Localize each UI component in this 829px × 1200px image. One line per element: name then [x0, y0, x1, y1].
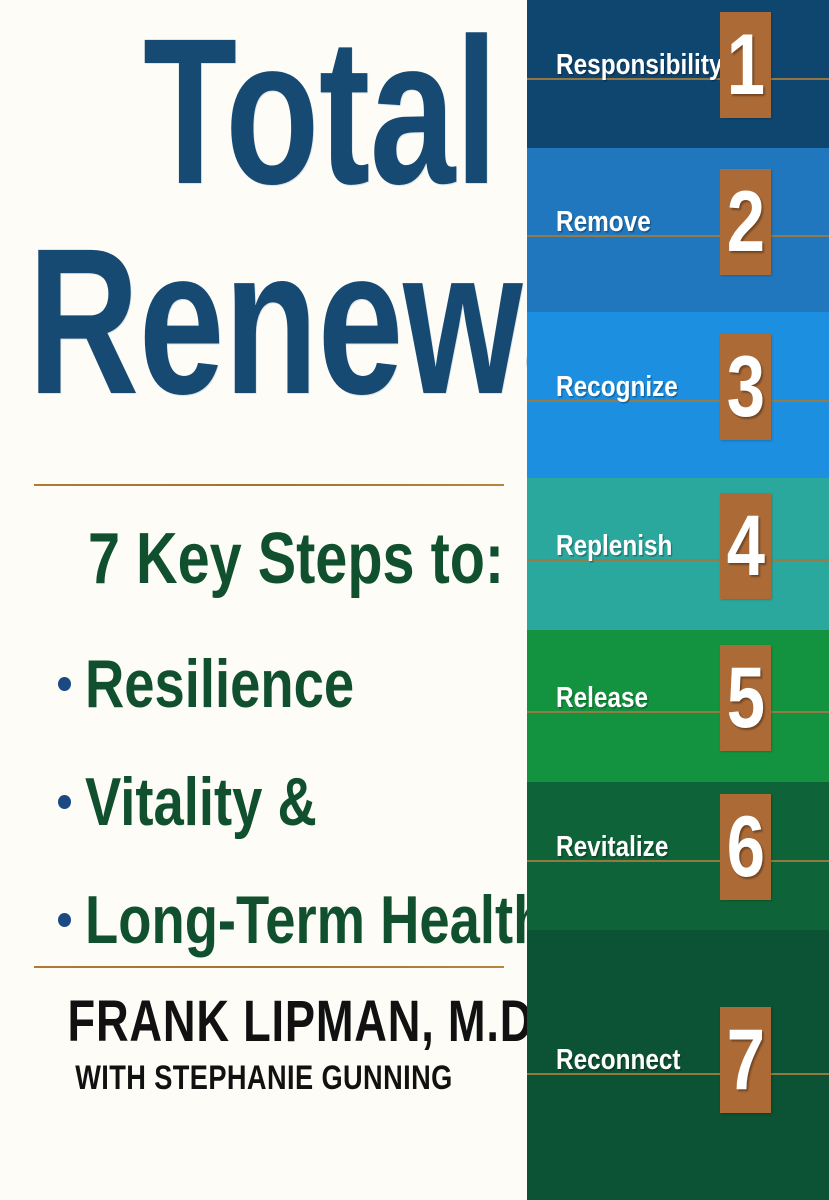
author-name-text: FRANK LIPMAN, M.D. [68, 990, 527, 1054]
step-number-box: 1 [720, 12, 771, 118]
subtitle-bullet-label: Long-Term Health [85, 886, 527, 954]
step-band: Revitalize6 [527, 782, 829, 930]
step-number-box: 2 [720, 169, 771, 275]
step-number: 6 [726, 804, 764, 890]
step-band: Replenish4 [527, 478, 829, 630]
subtitle-bullet-label: Resilience [85, 650, 354, 718]
author-block: FRANK LIPMAN, M.D. WITH STEPHANIE GUNNIN… [0, 990, 527, 1097]
step-number: 7 [726, 1017, 764, 1103]
step-label: Remove [556, 208, 651, 237]
step-number: 4 [726, 503, 764, 589]
step-label: Responsibility [556, 51, 722, 80]
author-secondary: WITH STEPHANIE GUNNING [0, 1054, 527, 1097]
step-number-box: 3 [720, 334, 771, 440]
step-band: Recognize3 [527, 312, 829, 478]
step-label: Revitalize [556, 833, 668, 862]
subtitle-heading: 7 Key Steps to: [88, 518, 504, 600]
front-cover-main-panel: Total Renewal 7 Key Steps to: Resilience… [0, 0, 527, 1200]
step-label: Replenish [556, 532, 672, 561]
step-band: Responsibility1 [527, 0, 829, 148]
author-name: FRANK LIPMAN, M.D. [0, 990, 527, 1054]
step-number: 3 [726, 344, 764, 430]
bullet-dot-icon [58, 795, 71, 809]
divider-rule-top [34, 484, 504, 486]
bullet-dot-icon [58, 913, 71, 927]
subtitle-bullet-label: Vitality & [85, 768, 317, 836]
step-band: Remove2 [527, 148, 829, 312]
step-number-box: 6 [720, 794, 771, 900]
book-cover: Total Renewal 7 Key Steps to: Resilience… [0, 0, 829, 1200]
subtitle-bullet-item: Vitality & [58, 768, 375, 836]
title-line-1: Total [143, 8, 497, 216]
step-number-box: 7 [720, 1007, 771, 1113]
step-band: Reconnect7 [527, 930, 829, 1200]
step-number: 2 [726, 179, 764, 265]
step-number-box: 4 [720, 493, 771, 599]
book-title: Total Renewal [0, 0, 527, 480]
subtitle-bullet-item: Long-Term Health [58, 886, 527, 954]
author-secondary-text: WITH STEPHANIE GUNNING [75, 1060, 453, 1097]
seven-steps-panel: Responsibility1Remove2Recognize3Replenis… [527, 0, 829, 1200]
step-number-box: 5 [720, 645, 771, 751]
subtitle-bullet-item: Resilience [58, 650, 421, 718]
bullet-dot-icon [58, 677, 71, 691]
step-number: 1 [726, 22, 764, 108]
step-number: 5 [726, 655, 764, 741]
title-line-2: Renewal [28, 218, 527, 426]
divider-rule-bottom [34, 966, 504, 968]
step-label: Recognize [556, 373, 678, 402]
step-band: Release5 [527, 630, 829, 782]
step-label: Release [556, 684, 648, 713]
step-label: Reconnect [556, 1046, 681, 1075]
